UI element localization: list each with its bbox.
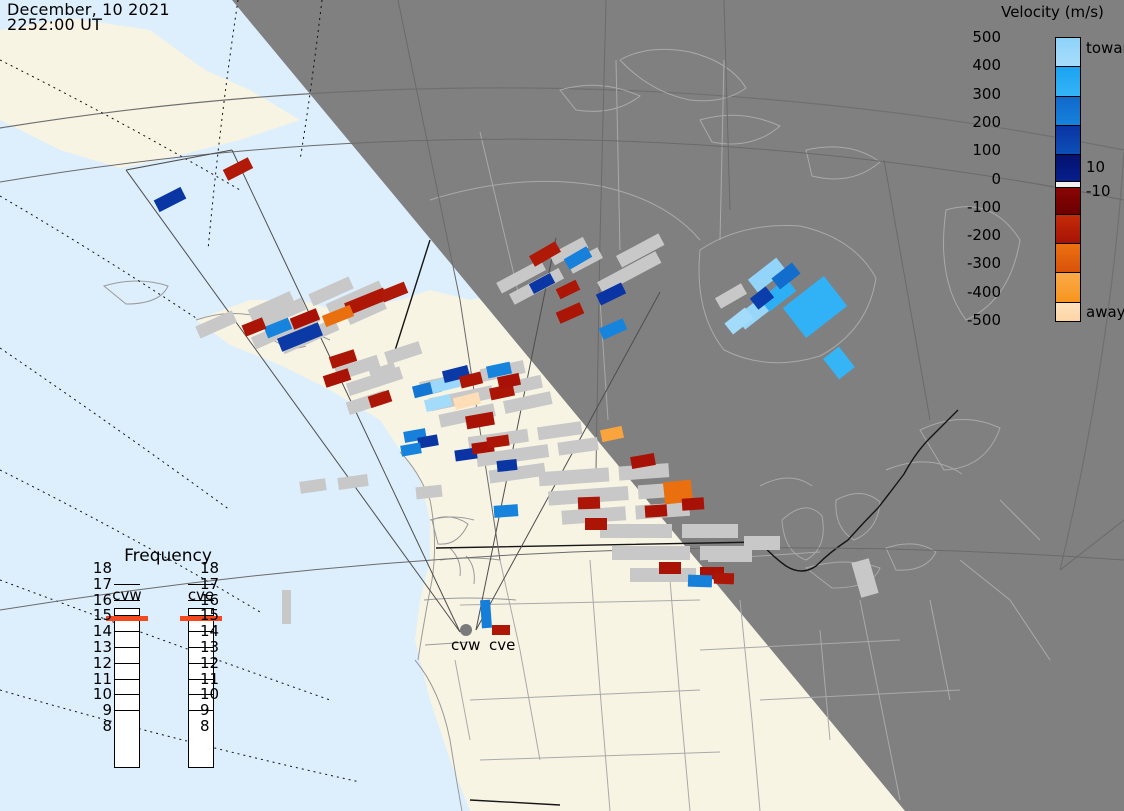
frequency-legend: Frequency cvw18171615141312111098cve1817… [88, 546, 248, 786]
colorbar-segment [1056, 243, 1080, 272]
colorbar-tick-label: -100 [941, 198, 1001, 216]
frequency-gridline [114, 663, 140, 664]
colorbar-segment [1056, 96, 1080, 125]
velocity-cell [682, 497, 705, 511]
site-label-cve: cve [489, 636, 515, 654]
colorbar-tick-label: -300 [941, 254, 1001, 272]
colorbar-tick-label: 400 [941, 56, 1001, 74]
frequency-tick-label: 8 [200, 717, 210, 735]
velocity-colorbar: Velocity (m/s) 5004003002001000-100-200-… [975, 0, 1124, 340]
colorbar-tick-label: -400 [941, 283, 1001, 301]
frequency-gridline [114, 631, 140, 632]
colorbar-segment [1056, 154, 1080, 180]
radar-site-marker [460, 624, 472, 636]
colorbar-segment [1056, 272, 1080, 301]
colorbar-segment [1056, 302, 1080, 322]
frequency-marker [106, 616, 148, 621]
colorbar-segment [1056, 66, 1080, 95]
frequency-tick-label: 8 [88, 717, 112, 735]
timestamp: December, 10 2021 2252:00 UT [7, 2, 170, 32]
velocity-cell [585, 518, 607, 530]
colorbar-segment [1056, 125, 1080, 154]
velocity-cell [480, 600, 492, 629]
velocity-cell [714, 573, 734, 585]
colorbar-tick-label: 100 [941, 141, 1001, 159]
colorbar-tick-label: 300 [941, 85, 1001, 103]
frequency-gridline [114, 710, 140, 711]
colorbar-segment [1056, 38, 1080, 66]
colorbar-segment [1056, 181, 1080, 188]
velocity-cell [645, 504, 668, 518]
frequency-gridline [114, 584, 140, 585]
colorbar-tick-label: 500 [941, 28, 1001, 46]
colorbar-lower-threshold-label: -10 [1086, 182, 1111, 200]
colorbar-away-label: away [1086, 303, 1124, 321]
colorbar-tick-label: -200 [941, 226, 1001, 244]
colorbar-tick-label: 0 [941, 170, 1001, 188]
colorbar-tick-label: 200 [941, 113, 1001, 131]
frequency-gridline [114, 679, 140, 680]
colorbar-segment [1056, 187, 1080, 213]
colorbar-segment [1056, 214, 1080, 243]
frequency-gridline [114, 647, 140, 648]
velocity-cell [492, 625, 510, 635]
velocity-cell [688, 575, 712, 588]
radar-map-figure: December, 10 2021 2252:00 UT Velocity (m… [0, 0, 1124, 811]
frequency-gridline [114, 694, 140, 695]
colorbar-upper-threshold-label: 10 [1086, 158, 1105, 176]
velocity-cell [494, 504, 519, 518]
velocity-cell [496, 459, 517, 472]
velocity-cell [659, 562, 681, 574]
site-label-cvw: cvw [451, 636, 480, 654]
colorbar-strip [1055, 37, 1081, 322]
frequency-gridline [114, 600, 140, 601]
colorbar-tick-labels: 5004003002001000-100-200-300-400-500 [975, 0, 1051, 340]
colorbar-tick-label: -500 [941, 311, 1001, 329]
colorbar-toward-label: toward [1086, 39, 1124, 57]
velocity-cell [578, 497, 600, 510]
frequency-legend-title: Frequency [88, 546, 248, 566]
timestamp-time: 2252:00 UT [7, 17, 170, 32]
